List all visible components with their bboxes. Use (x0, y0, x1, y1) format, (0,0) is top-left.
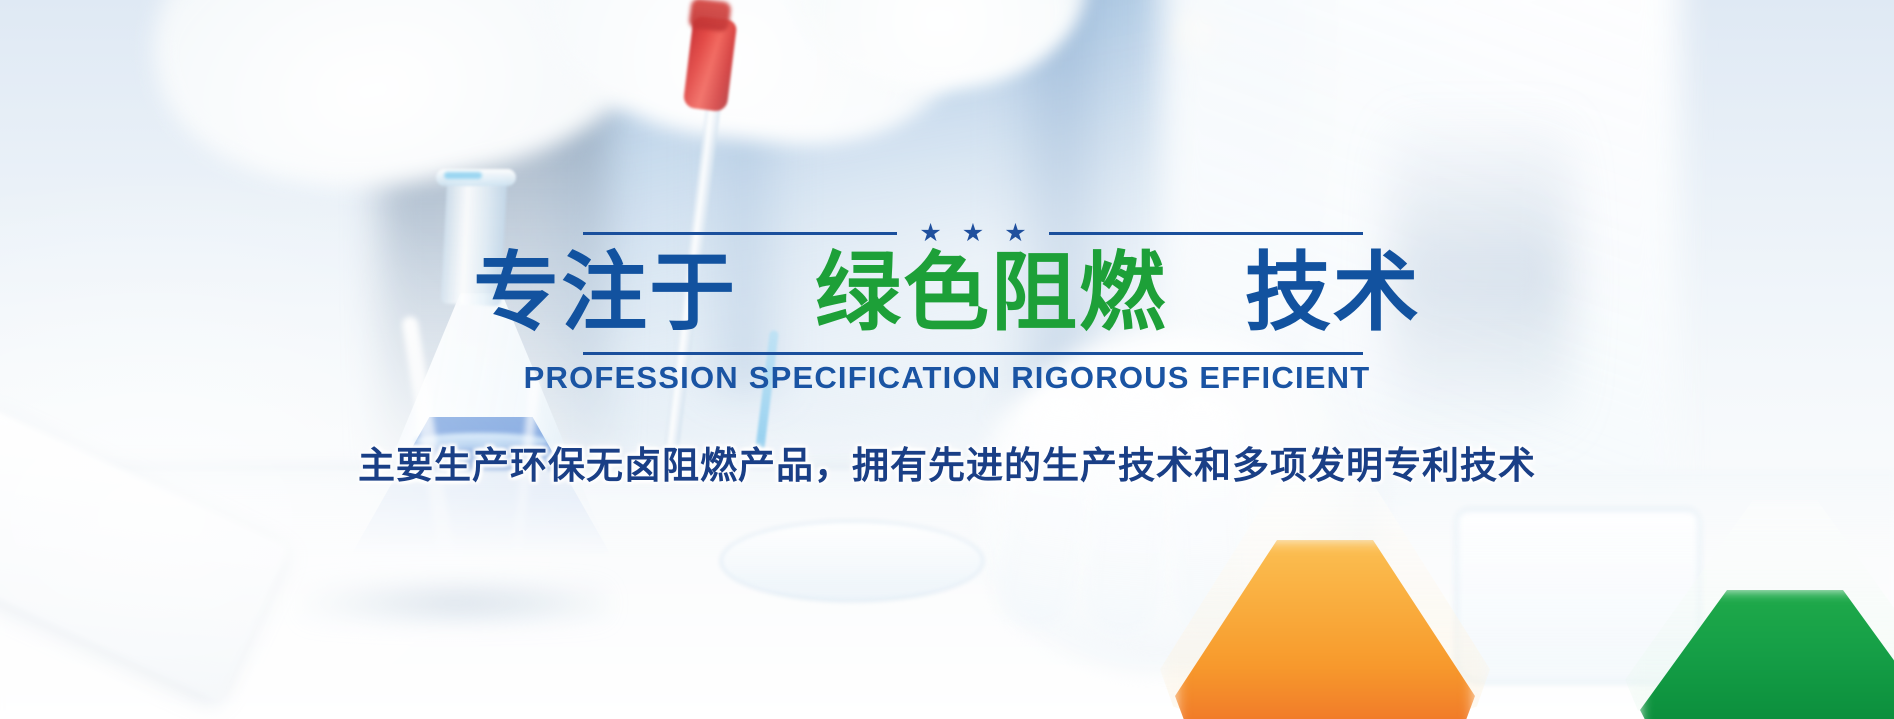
rule-line-left (583, 232, 897, 235)
banner-subtitle-english: PROFESSION SPECIFICATION RIGOROUS EFFICI… (0, 360, 1894, 396)
star-group: ★ ★ ★ (897, 221, 1048, 246)
star-icon: ★ (919, 221, 941, 246)
banner-content: ★ ★ ★ 专注于 绿色阻燃 技术 PROFESSION SPECIFICATI… (0, 0, 1894, 719)
headline-part-focus: 专注于 (473, 245, 737, 341)
headline-part-technology: 技术 (1245, 245, 1421, 341)
headline-part-green-flame-retardant: 绿色阻燃 (815, 245, 1167, 341)
decorative-rule-with-stars: ★ ★ ★ (583, 222, 1363, 244)
star-icon: ★ (1004, 221, 1026, 246)
rule-line-right (1049, 232, 1363, 235)
banner-headline: 专注于 绿色阻燃 技术 (0, 244, 1894, 344)
banner-tagline: 主要生产环保无卤阻燃产品，拥有先进的生产技术和多项发明专利技术 (0, 435, 1894, 489)
headline-underline-rule (583, 352, 1363, 355)
hero-banner: ★ ★ ★ 专注于 绿色阻燃 技术 PROFESSION SPECIFICATI… (0, 0, 1894, 719)
star-icon: ★ (962, 221, 984, 246)
